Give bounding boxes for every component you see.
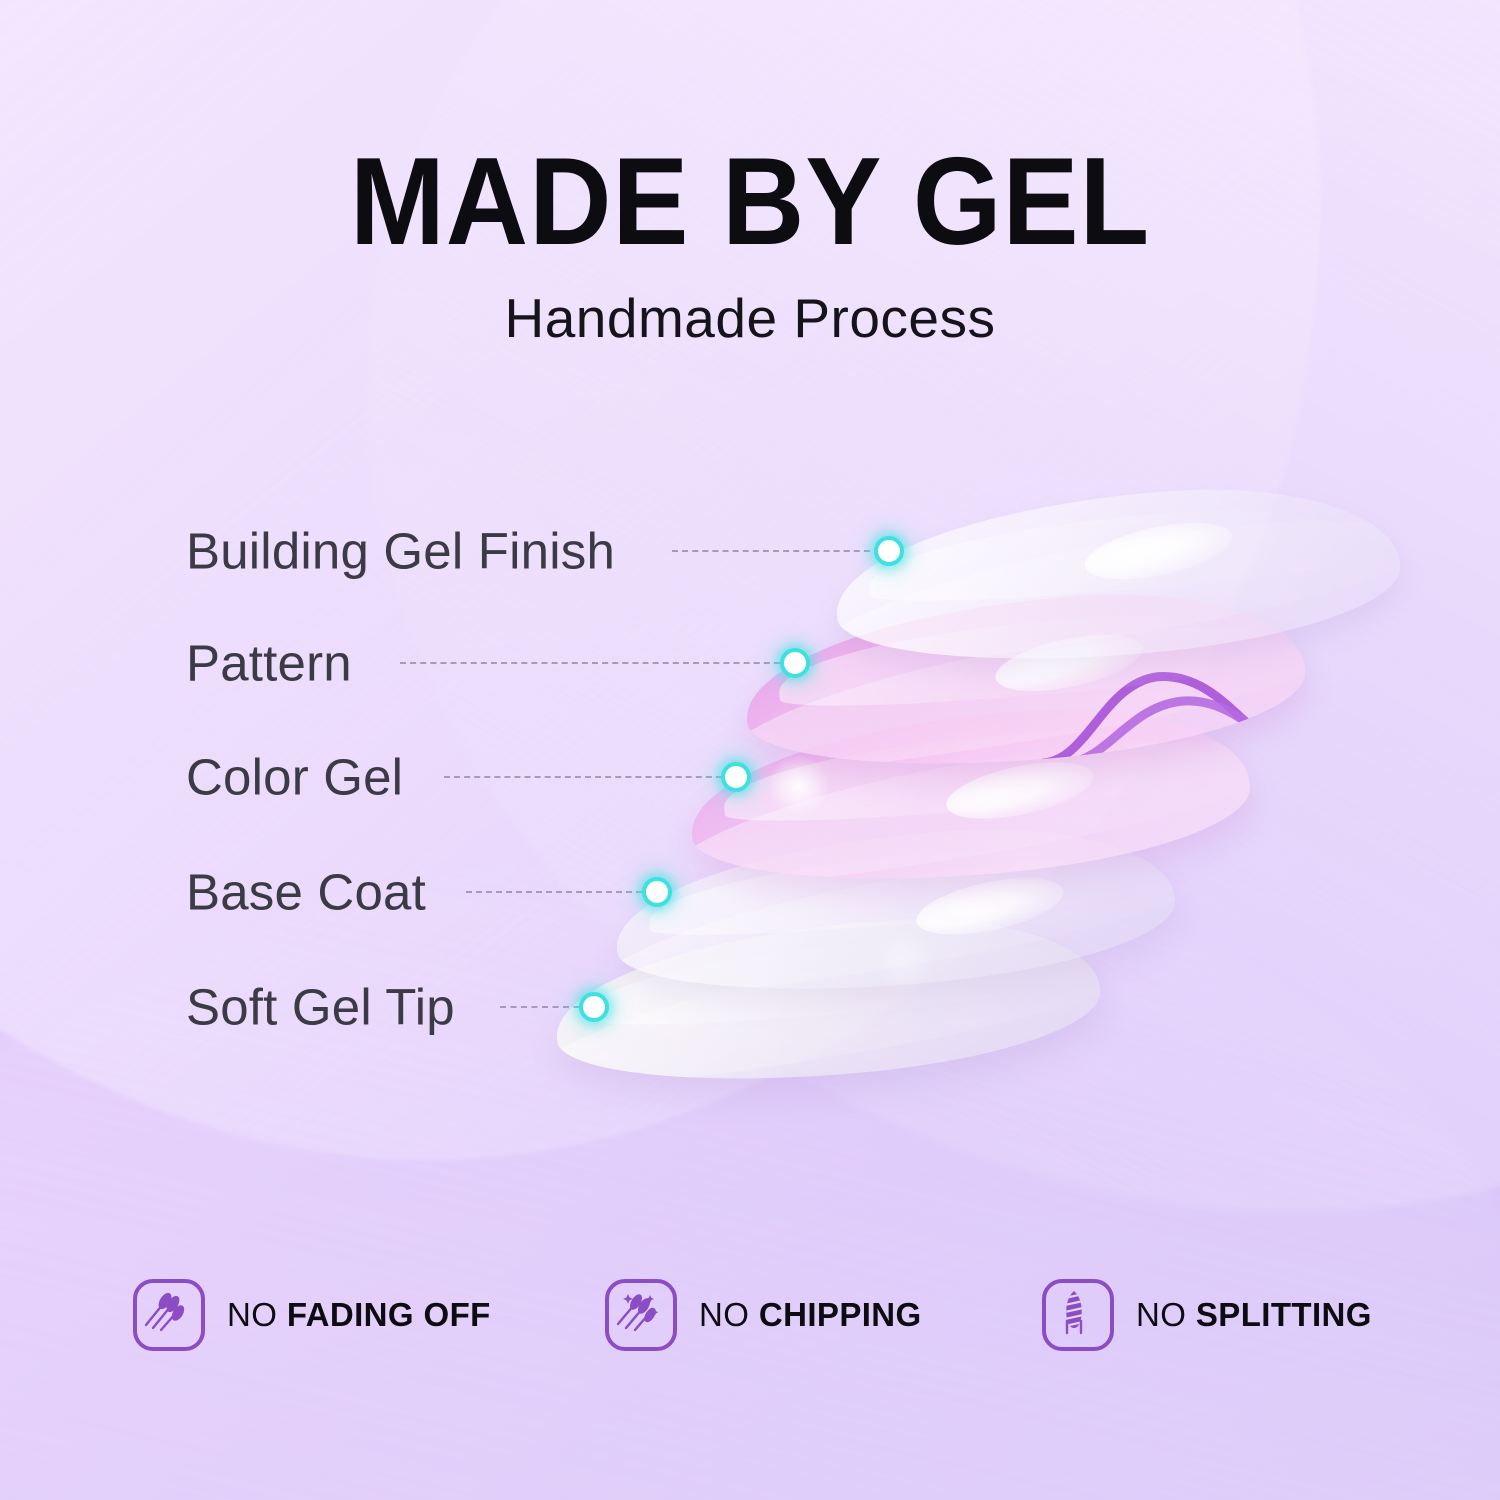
feature-no-splitting: NO SPLITTING xyxy=(1042,1280,1372,1350)
leader-line-soft-gel-tip xyxy=(500,1006,590,1008)
layer-label-building-gel-finish: Building Gel Finish xyxy=(186,522,615,581)
leader-line-color-gel xyxy=(444,776,732,778)
layer-marker-icon-pattern xyxy=(780,648,810,678)
feature-label-no-splitting: NO SPLITTING xyxy=(1136,1296,1372,1334)
feature-lead-0: NO xyxy=(227,1296,287,1333)
layer-marker-icon-base-coat xyxy=(642,877,672,907)
layer-label-base-coat: Base Coat xyxy=(186,863,426,922)
layer-marker-icon-building-gel-finish xyxy=(874,536,904,566)
layer-label-color-gel: Color Gel xyxy=(186,748,403,807)
layer-label-pattern: Pattern xyxy=(186,634,352,693)
feature-no-chipping: NO CHIPPING xyxy=(605,1280,922,1350)
layer-marker-icon-color-gel xyxy=(721,762,751,792)
feature-label-no-fading-off: NO FADING OFF xyxy=(227,1296,491,1334)
feature-badge-row: NO FADING OFF xyxy=(0,1268,1500,1368)
feature-no-fading-off: NO FADING OFF xyxy=(133,1280,491,1350)
feature-emph-0: FADING OFF xyxy=(287,1296,491,1333)
feature-lead-1: NO xyxy=(699,1296,759,1333)
feature-emph-1: CHIPPING xyxy=(759,1296,922,1333)
layer-label-soft-gel-tip: Soft Gel Tip xyxy=(186,978,455,1037)
feature-emph-2: SPLITTING xyxy=(1196,1296,1372,1333)
feature-label-no-chipping: NO CHIPPING xyxy=(699,1296,922,1334)
nail-layer-building-gel-finish xyxy=(830,475,1405,674)
nail-file-icon xyxy=(1042,1279,1114,1351)
sparkle-nails-icon xyxy=(605,1279,677,1351)
product-infographic: MADE BY GEL Handmade Process xyxy=(0,0,1500,1500)
feature-lead-2: NO xyxy=(1136,1296,1196,1333)
leader-line-building-gel-finish xyxy=(672,550,880,552)
leader-line-base-coat xyxy=(466,891,652,893)
layer-marker-icon-soft-gel-tip xyxy=(579,992,609,1022)
three-nails-icon xyxy=(133,1279,205,1351)
leader-line-pattern xyxy=(400,662,790,664)
